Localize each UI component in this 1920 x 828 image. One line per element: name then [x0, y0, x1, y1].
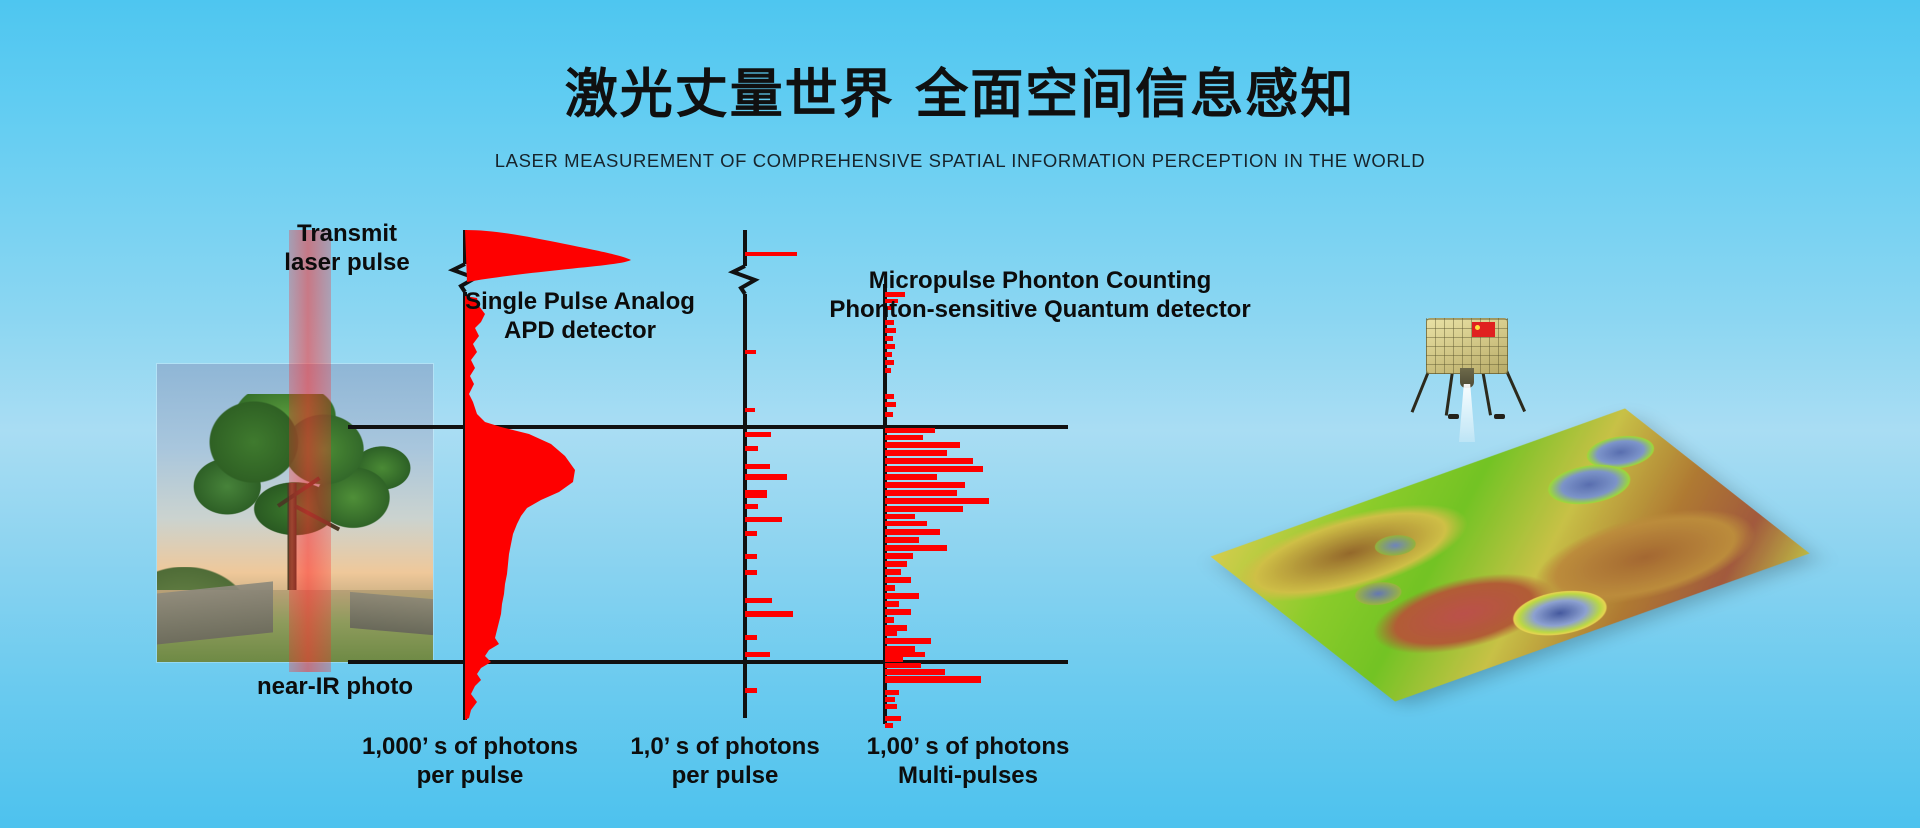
histogram-bar — [745, 517, 782, 522]
histogram-bar — [745, 490, 767, 498]
histogram-bar — [885, 601, 899, 607]
transmit-laser-pulse-label: Transmit laser pulse — [232, 219, 462, 278]
caption-analog: 1,000’ s of photons per pulse — [330, 733, 610, 791]
histogram-bar — [885, 402, 896, 407]
histogram-bar — [885, 442, 960, 448]
caption-micropulse-line1: 1,00’ s of photons — [867, 733, 1070, 760]
histogram-bar — [885, 617, 894, 623]
caption-sparse: 1,0’ s of photons per pulse — [600, 733, 850, 791]
histogram-bar — [745, 652, 770, 657]
histogram-bar — [885, 336, 893, 341]
lidar-terrain-model — [1200, 320, 1900, 750]
histogram-bar — [885, 609, 911, 615]
histogram-bar — [885, 676, 981, 683]
histogram-bar — [745, 598, 772, 603]
histogram-bar — [885, 593, 919, 599]
histogram-bar — [745, 464, 770, 469]
lunar-lander — [1408, 318, 1526, 423]
histogram-bar — [885, 450, 947, 456]
flag-star — [1475, 325, 1480, 330]
histogram-bar — [885, 344, 895, 349]
histogram-bar — [885, 577, 911, 583]
micropulse-label-line1: Micropulse Phonton Counting — [869, 267, 1212, 294]
micropulse-label-line2: Phonton-sensitive Quantum detector — [829, 296, 1250, 323]
histogram-bar — [885, 652, 925, 657]
caption-sparse-line2: per pulse — [600, 762, 850, 791]
caption-sparse-line1: 1,0’ s of photons — [630, 733, 819, 760]
page-title: 激光丈量世界 全面空间信息感知 — [0, 52, 1920, 128]
lander-foot — [1494, 414, 1505, 419]
histogram-bar — [885, 466, 983, 472]
histogram-bar — [745, 611, 793, 617]
histogram-bar — [885, 716, 901, 721]
lander-foot — [1448, 414, 1459, 419]
histogram-bar — [885, 646, 915, 652]
histogram-bar — [885, 561, 907, 567]
caption-micropulse-line2: Multi-pulses — [838, 762, 1098, 791]
histogram-bar — [885, 657, 903, 662]
histogram-bar — [885, 498, 989, 504]
analog-pulse-shape — [465, 230, 631, 282]
chart-micropulse-photon-counting — [875, 284, 1105, 734]
histogram-bar — [885, 352, 892, 357]
engine-plume — [1459, 384, 1475, 442]
histogram-bar — [885, 514, 915, 519]
histogram-bar — [885, 569, 901, 575]
micropulse-photon-counting-label: Micropulse Phonton Counting Phonton-sens… — [790, 266, 1290, 325]
histogram-bar — [745, 252, 797, 256]
laser-beam-column — [289, 230, 331, 672]
single-pulse-analog-apd-label: Single Pulse Analog APD detector — [405, 287, 755, 346]
histogram-bar — [745, 432, 771, 437]
histogram-bar — [885, 428, 935, 433]
terrain-surface — [1210, 408, 1809, 701]
histogram-bar — [885, 360, 894, 365]
histogram-bar — [745, 554, 757, 559]
histogram-bar — [745, 408, 755, 412]
histogram-bar — [745, 504, 758, 509]
micropulse-bar-group — [885, 292, 989, 728]
page-subtitle: LASER MEASUREMENT OF COMPREHENSIVE SPATI… — [0, 150, 1920, 172]
apd-label-line2: APD detector — [504, 317, 656, 344]
transmit-label-line2: laser pulse — [284, 249, 409, 276]
lander-body — [1426, 318, 1508, 374]
histogram-bar — [885, 458, 973, 464]
poster-canvas: 激光丈量世界 全面空间信息感知 LASER MEASUREMENT OF COM… — [0, 0, 1920, 828]
histogram-bar — [885, 663, 921, 668]
histogram-bar — [885, 553, 913, 559]
lander-panel-grid — [1426, 318, 1508, 374]
near-ir-photo-label: near-IR photo — [185, 672, 485, 701]
histogram-bar — [745, 350, 756, 354]
apd-label-line1: Single Pulse Analog — [465, 288, 695, 315]
histogram-bar — [885, 704, 897, 709]
histogram-bar — [885, 435, 923, 440]
histogram-bar — [885, 690, 899, 695]
histogram-bar — [885, 482, 965, 488]
histogram-bar — [885, 521, 927, 526]
histogram-bar — [885, 474, 937, 480]
histogram-bar — [885, 669, 945, 675]
histogram-bar — [885, 529, 940, 535]
histogram-bar — [885, 625, 907, 631]
histogram-bar — [885, 506, 963, 512]
histogram-bar — [885, 490, 957, 496]
histogram-bar — [885, 537, 919, 543]
histogram-bar — [885, 545, 947, 551]
histogram-bar — [885, 328, 896, 333]
histogram-bar — [745, 688, 757, 693]
histogram-bar — [745, 570, 757, 575]
histogram-bar — [885, 697, 895, 702]
flag-icon — [1472, 322, 1495, 337]
transmit-label-line1: Transmit — [297, 220, 397, 247]
caption-analog-line1: 1,000’ s of photons — [362, 733, 578, 760]
histogram-bar — [885, 638, 931, 644]
histogram-bar — [885, 412, 893, 417]
histogram-bar — [885, 631, 897, 636]
histogram-bar — [745, 635, 757, 640]
histogram-bar — [745, 474, 787, 480]
caption-micropulse: 1,00’ s of photons Multi-pulses — [838, 733, 1098, 791]
histogram-bar — [745, 446, 758, 451]
histogram-bar — [885, 585, 895, 591]
histogram-bar — [885, 368, 891, 373]
histogram-bar — [745, 531, 757, 536]
histogram-bar — [885, 394, 894, 399]
histogram-bar — [885, 723, 893, 728]
caption-analog-line2: per pulse — [330, 762, 610, 791]
analog-return-waveform — [465, 296, 575, 720]
